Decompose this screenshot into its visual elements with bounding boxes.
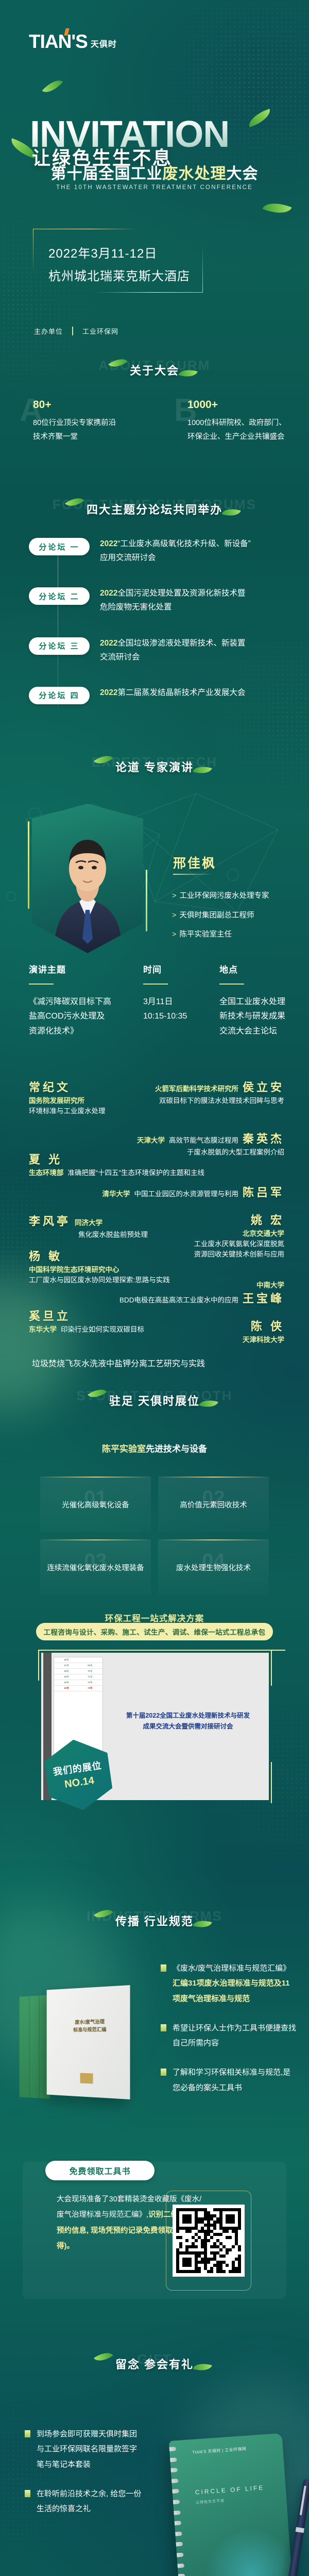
forum-year: 2022 [100,688,117,697]
speech-detail-table: 演讲主题 《减污降碳双目标下高 盐高COD污水处理及 资源化技术》 时间 3月1… [29,962,290,1039]
square-bullet-icon [25,2430,30,2437]
time-line: 3月11日 [143,995,219,1009]
speech-topic-column: 演讲主题 《减污降碳双目标下高 盐高COD污水处理及 资源化技术》 [29,962,143,1039]
forum-line1: 全国污泥处理处置及资源化新技术暨 [117,589,245,598]
our-booth-label: 我们的展位 [52,1758,102,1778]
speaker-entry-topic: 垃圾焚烧飞灰水洗液中盐钾分离工艺研究与实践 [32,1357,205,1369]
event-date: 2022年3月11-12日 [48,243,157,261]
booth-section: STOP AT THE BOOTH 驻足 天俱时展位 陈平实验室先进技术与设备 … [0,1386,309,1638]
about-heading-title: 关于大会 [130,362,179,378]
speaker-name: 王宝峰 [243,1290,284,1306]
conference-subtitle-en: THE 10TH WASTEWATER TREATMENT CONFERENCE [0,184,309,191]
speaker-entry: 姚 宏 北京交通大学 工业废水厌氧氨氧化深度脱氮 资源回收关键技术创新与应用 [194,1211,285,1259]
conference-title-highlight: 废水处理 [163,165,227,182]
column-underline [219,984,244,985]
place-line: 新技术与研发成果 [219,1009,290,1024]
booth-heading: STOP AT THE BOOTH 驻足 天俱时展位 [0,1386,309,1420]
notebook-glow-decoration [202,2525,293,2576]
speaker-org: 天津大学 [137,1134,165,1145]
floorplan-row: 68号 [54,1657,102,1663]
notebook-title: CIRCLE OF LIFE [195,2484,264,2496]
notebook-spiral-icon [169,2447,186,2576]
floorplan-row-highlight: 63号73号 [54,1686,102,1691]
speaker-org: 中国科学院生态环境研究中心 [29,1264,170,1274]
speaker-entry: 常纪文 国务院发展研究所 环境标准与工业废水处理 [29,1078,106,1115]
topic-line: 资源化技术》 [29,1024,143,1039]
book-slipcase: 废水/废气治理 标准与规范汇编 [47,1985,130,2099]
speaker-org: 北京交通大学 [194,1228,285,1238]
notebook-illustration: TIAN'S 天俱时 | 工业环保网 CIRCLE OF LIFE 让绿色生生不… [169,2433,293,2576]
booth-subtitle-rest: 先进技术与设备 [146,1444,207,1454]
speaker-topic: 垃圾焚烧飞灰水洗液中盐钾分离工艺研究与实践 [32,1357,205,1369]
speech-place-value: 全国工业废水处理 新技术与研发成果 交流大会主论坛 [219,995,290,1039]
forums-heading: FOUR THEME SUB FORUMS 四大主题分论坛共同举办 [0,495,309,529]
speaker-role-text: 天俱时集团副总工程师 [179,911,254,920]
chevron-right-icon: > [172,930,176,939]
speaker-entry: 火箭军后勤科学技术研究所 侯立安 双碳目标下的膜法水处理技术回眸与思考 [155,1078,284,1105]
column-underline [29,984,54,985]
chevron-right-icon: > [172,892,176,900]
stat-number: 80+ [33,399,143,411]
stat-text: 80位行业顶尖专家携前沿 技术齐聚一堂 [33,416,143,444]
tech-tile[interactable]: 02 高价值元素回收技术 [158,1477,269,1532]
speech-topic-value: 《减污降碳双目标下高 盐高COD污水处理及 资源化技术》 [29,995,143,1039]
stat-card: B 1000+ 1000位科研院校、政府部门、 环保企业、生产企业共镶盛会 [154,399,309,444]
stat-text-line: 1000位科研院校、政府部门、 [187,416,298,430]
speaker-portrait-illustration [32,804,143,953]
event-venue: 杭州城北瑞莱克斯大酒店 [48,266,190,284]
forum-line1: 第二届蒸发结晶新技术产业发展大会 [117,688,245,697]
organizer-name: 工业环保网 [82,326,118,336]
floorplan-row: 64号72号 [54,1680,102,1686]
free-book-section: 免费领取工具书 大会现场准备了30套精装烫金收藏版《废水/废气治理标准与规范汇编… [0,2154,309,2344]
about-heading-text: 关于大会 [130,364,179,377]
speaker-list-section: 常纪文 国务院发展研究所 环境标准与工业废水处理 火箭军后勤科学技术研究所 侯立… [0,1054,309,1342]
book-set-illustration: 废水/废气治理 标准与规范汇编 [19,1978,142,2107]
place-line: 全国工业废水处理 [219,995,290,1009]
norms-bullet-list: 《废水/废气治理标准与规范汇编》汇编31项废水治理标准与规范及11项废气治理标准… [161,1961,297,2110]
gift-bullet-item: 到场参会即可获赠天俱时集团与工业环保网联名限量款签字笔与笔记本套装 [25,2427,143,2472]
tile-label: 高价值元素回收技术 [180,1499,247,1510]
topic-line: 《减污降碳双目标下高 [29,995,143,1009]
forum-line1: 全国垃圾渗滤液处理新技术、新装置 [117,639,245,648]
speaker-topic: 准确把握“十四五”生态环境保护的主题和主线 [68,1167,205,1177]
forum-text: 2022全国垃圾渗滤液处理新技术、新装置 交流研讨会 [100,636,246,664]
speaker-topic: 焦化废水脱盐前预处理 [78,1229,148,1239]
speaker-name: 姚 宏 [194,1211,285,1228]
forum-badge[interactable]: 分论坛 三 [29,637,90,655]
forum-line1: “工业废水高级氧化技术升级、新设备” [117,539,250,548]
floorplan-section: 工程咨询与设计、采购、施工、试生产、调试、维保一站式工程总承包 68号 67号6… [0,1623,309,1829]
tile-label: 废水处理生物强化技术 [176,1562,251,1573]
forum-badge[interactable]: 分论坛 一 [29,538,90,555]
speaker-name: 常纪文 [29,1078,106,1095]
speech-time-value: 3月11日 10:15-10:35 [143,995,219,1024]
qr-code-grid [176,2208,241,2273]
forum-row[interactable]: 分论坛 三 2022全国垃圾渗滤液处理新技术、新装置 交流研讨会 [0,636,309,664]
speaker-entry: 李风亭 同济大学 焦化废水脱盐前预处理 [29,1212,148,1239]
speaker-entry: 清华大学 中国工业园区的水资源管理与利用 陈吕军 [102,1183,284,1200]
qr-code[interactable] [173,2205,245,2277]
speaker-topic: 双碳目标下的膜法水处理技术回眸与思考 [155,1095,284,1105]
forum-line2: 应用交流研讨会 [100,551,251,565]
gift-bullet-text: 到场参会即可获赠天俱时集团与工业环保网联名限量款签字笔与笔记本套装 [37,2427,143,2472]
our-booth-number: NO.14 [64,1774,95,1790]
speaker-name: 奚旦立 [29,1307,144,1324]
expert-heading-text: 论道 专家演讲 [115,761,194,774]
place-line: 交流大会主论坛 [219,1024,290,1039]
brand-name-cn: 天俱时 [91,37,117,51]
leaf-icon [42,75,63,97]
gift-heading-text: 留念 参会有礼 [115,2358,194,2371]
forums-heading-title: 四大主题分论坛共同举办 [87,501,222,517]
norms-heading-text: 传播 行业规范 [115,1915,194,1928]
speaker-topic: BDD电极在高盐高浓工业废水中的应用 [119,1294,238,1304]
booth-tech-tiles: 01 光催化高级氧化设备 02 高价值元素回收技术 03 连续流催化氧化废水处理… [40,1477,269,1595]
stat-number: 1000+ [187,399,298,411]
booth-heading-text: 驻足 天俱时展位 [109,1395,200,1408]
speaker-role-text: 工业环保网污废水处理专家 [179,892,269,900]
floorplan-caption-line: 成果交流大会暨供需对接研讨会 [113,1721,263,1732]
forums-heading-text: 四大主题分论坛共同举办 [87,503,222,516]
speaker-entry: 奚旦立 东华大学 印染行业如何实现双碳目标 [29,1307,144,1334]
tile-label: 连续流催化氧化废水处理装备 [47,1562,144,1573]
floorplan-caption: 第十届2022全国工业废水处理新技术与研发 成果交流大会暨供需对接研讨会 [113,1710,263,1733]
speaker-org: 东华大学 [29,1324,57,1334]
leaf-icon [246,109,273,127]
floorplan-row: 66号70号 [54,1669,102,1674]
expert-heading: EXPERT SPEECH 论道 专家演讲 [0,752,309,786]
leaf-icon [262,197,291,219]
stat-text-line: 环保企业、生产企业共镶盛会 [187,430,298,444]
forum-year: 2022 [100,539,117,548]
poster-root: TIAN'S 天俱时 INVITATION 让绿色生生不息 第十届全国工业废水处… [0,0,309,2576]
book-cover-line: 标准与规范汇编 [59,2026,123,2035]
speaker-org: 生态环境部 [29,1167,64,1177]
column-underline [143,984,168,985]
conference-title-part2: 大会 [227,165,259,182]
tile-label: 光催化高级氧化设备 [62,1499,129,1510]
speaker-topic: 环境标准与工业废水处理 [29,1105,106,1115]
floorplan-caption-line: 第十届2022全国工业废水处理新技术与研发 [113,1710,263,1721]
free-book-pill: 免费领取工具书 [45,2161,154,2180]
speaker-entry: 陈 侠 天津科技大学 [243,1317,284,1344]
square-bullet-icon [161,2069,166,2076]
norms-bullet-text: 希望让环保人士作为工具书便捷查找自己所需内容 [173,2021,297,2051]
speaker-org: 国务院发展研究所 [29,1095,106,1105]
speaker-name: 夏 光 [29,1150,204,1167]
topic-line: 盐高COD污水处理及 [29,1009,143,1024]
speaker-topic: 中国工业园区的水资源管理与利用 [134,1188,238,1198]
booth-heading-title: 驻足 天俱时展位 [109,1392,200,1409]
stat-text-line: 80位行业顶尖专家携前沿 [33,416,143,430]
speaker-name: 陈吕军 [243,1183,284,1200]
forum-row[interactable]: 分论坛 一 2022“工业废水高级氧化技术升级、新设备” 应用交流研讨会 [0,537,309,565]
speaker-name: 侯立安 [243,1078,284,1095]
about-heading: ABOUT FOURM 关于大会 [0,355,309,389]
speaker-name: 邢佳枫 [173,853,216,872]
speech-topic-header: 演讲主题 [29,962,143,975]
notebook-subtitle: 让绿色生生不息 [196,2498,225,2505]
forum-year: 2022 [100,639,117,648]
speaker-org: 同济大学 [75,1217,102,1227]
norms-heading-title: 传播 行业规范 [115,1912,194,1929]
speaker-name-underline [173,874,213,875]
speaker-org: 中南大学 [119,1279,284,1290]
booth-subtitle-highlight: 陈平实验室 [102,1444,146,1454]
pen-band-icon [296,2527,304,2533]
speaker-roles: >工业环保网污废水处理专家 >天俱时集团副总工程师 >陈平实验室主任 [172,892,269,951]
hex-accent-left [28,821,29,909]
speaker-role-item: >天俱时集团副总工程师 [172,912,269,920]
onestop-solution-label: 环保工程一站式解决方案 [0,1612,309,1624]
norms-bullet-item: 了解和学习环保相关标准与规范,是您必备的案头工具书 [161,2065,297,2095]
speech-time-column: 时间 3月11日 10:15-10:35 [143,962,219,1039]
speech-time-header: 时间 [143,962,219,975]
speech-place-header: 地点 [219,962,290,975]
square-bullet-icon [25,2490,30,2497]
free-book-card: 免费领取工具书 大会现场准备了30套精装烫金收藏版《废水/废气治理标准与规范汇编… [23,2162,286,2299]
gift-bullet-item: 在聆听前沿技术之余, 给您一份生活的惊喜之礼 [25,2486,143,2517]
tech-tile[interactable]: 01 光催化高级氧化设备 [40,1477,151,1532]
speaker-entry: 夏 光 生态环境部 准确把握“十四五”生态环境保护的主题和主线 [29,1150,204,1177]
book-spines [20,1995,50,2098]
forums-section: FOUR THEME SUB FORUMS 四大主题分论坛共同举办 分论坛 一 … [0,495,309,752]
speaker-name: 杨 敏 [29,1247,170,1264]
speaker-topic-line2: 资源回收关键技术创新与应用 [194,1248,285,1259]
conference-title: 第十届全国工业废水处理大会 [0,161,309,183]
stat-text-line: 技术齐聚一堂 [33,430,143,444]
speaker-org: 天津科技大学 [243,1334,284,1344]
gift-bullet-list: 到场参会即可获赠天俱时集团与工业环保网联名限量款签字笔与笔记本套装 在聆听前沿技… [25,2427,143,2531]
norms-bullet-item: 希望让环保人士作为工具书便捷查找自己所需内容 [161,2021,297,2051]
pen-clip-icon [300,2485,306,2515]
forum-line2: 危险废物无害化处置 [100,600,246,614]
square-bullet-icon [161,2024,166,2031]
epc-scope-pill: 工程咨询与设计、采购、施工、试生产、调试、维保一站式工程总承包 [36,1623,273,1640]
brand-logo: TIAN'S 天俱时 [29,32,117,51]
conference-title-part1: 第十届全国工业 [51,165,163,182]
hero-section: TIAN'S 天俱时 INVITATION 让绿色生生不息 第十届全国工业废水处… [0,0,309,355]
booth-subtitle: 陈平实验室先进技术与设备 [0,1442,309,1454]
tech-tile[interactable]: 04 废水处理生物强化技术 [158,1539,269,1595]
norms-bullet-item: 《废水/废气治理标准与规范汇编》汇编31项废水治理标准与规范及11项废气治理标准… [161,1961,297,2006]
gift-bullet-text: 在聆听前沿技术之余, 给您一份生活的惊喜之礼 [37,2486,143,2517]
about-section: ABOUT FOURM 关于大会 A 80+ 80位行业顶尖专家携前沿 技术齐聚… [0,355,309,495]
book-logo-icon [80,2073,93,2084]
brand-mark: TIAN'S [29,32,88,51]
speaker-entry: 中南大学 BDD电极在高盐高浓工业废水中的应用 王宝峰 [119,1279,284,1306]
speaker-topic-line1: 高效节能气态膜过程用 [169,1134,238,1145]
speaker-topic: 印染行业如何实现双碳目标 [61,1324,144,1334]
forum-row[interactable]: 分论坛 二 2022全国污泥处理处置及资源化新技术暨 危险废物无害化处置 [0,586,309,614]
forum-year: 2022 [100,589,117,598]
forum-badge[interactable]: 分论坛 二 [29,587,90,605]
organizer-label: 主办单位 [34,326,63,336]
square-bullet-icon [161,1964,166,1972]
speaker-org: 火箭军后勤科学技术研究所 [155,1083,238,1093]
speaker-role-item: >陈平实验室主任 [172,931,269,939]
forum-list: 分论坛 一 2022“工业废水高级氧化技术升级、新设备” 应用交流研讨会 分论坛… [0,537,309,726]
gift-section: GIFT 留念 参会有礼 到场参会即可获赠天俱时集团与工业环保网联名限量款签字笔… [0,2349,309,2576]
norms-section: INDUSTRY NORMS 传播 行业规范 废水/废气治理 标准与规范汇编 《… [0,1875,309,2164]
forum-text: 2022“工业废水高级氧化技术升级、新设备” 应用交流研讨会 [100,537,251,565]
forum-text: 2022第二届蒸发结晶新技术产业发展大会 [100,686,246,700]
forum-line2: 交流研讨会 [100,650,246,664]
gift-heading: GIFT 留念 参会有礼 [0,2349,309,2383]
speaker-name: 李风亭 [29,1212,71,1229]
speaker-role-item: >工业环保网污废水处理专家 [172,892,269,900]
stat-text: 1000位科研院校、政府部门、 环保企业、生产企业共镶盛会 [187,416,298,444]
speaker-topic-line1: 工业废水厌氧氨氧化深度脱氮 [194,1238,285,1248]
speaker-portrait-hexagon [32,804,143,953]
floorplan-row: 67号65号 [54,1663,102,1669]
forum-badge[interactable]: 分论坛 四 [29,687,90,704]
expert-heading-title: 论道 专家演讲 [115,758,194,775]
speaker-org: 清华大学 [102,1188,130,1198]
event-info-box: 2022年3月11-12日 杭州城北瑞莱克斯大酒店 [33,229,203,293]
forum-row[interactable]: 分论坛 四 2022第二届蒸发结晶新技术产业发展大会 [0,686,309,704]
norms-bullet-text: 《废水/废气治理标准与规范汇编》汇编31项废水治理标准与规范及11项废气治理标准… [173,1961,297,2006]
book-cover-title: 废水/废气治理 标准与规范汇编 [59,2018,123,2035]
tech-tile[interactable]: 03 连续流催化氧化废水处理装备 [40,1539,151,1595]
stat-card: A 80+ 80位行业顶尖专家携前沿 技术齐聚一堂 [0,399,154,444]
organizer-row: 主办单位 工业环保网 [34,326,118,336]
qr-code-frame[interactable] [166,2191,251,2291]
notebook-logo: TIAN'S 天俱时 | 工业环保网 [192,2446,247,2455]
about-stats: A 80+ 80位行业顶尖专家携前沿 技术齐聚一堂 B 1000+ 1000位科… [0,399,309,444]
time-line: 10:15-10:35 [143,1009,219,1024]
forum-text: 2022全国污泥处理处置及资源化新技术暨 危险废物无害化处置 [100,586,246,614]
norms-bullet-text: 了解和学习环保相关标准与规范,是您必备的案头工具书 [173,2065,297,2095]
hex-accent-right [146,870,147,931]
gift-heading-title: 留念 参会有礼 [115,2355,194,2372]
floorplan-row: 65号71号 [54,1674,102,1680]
speaker-name: 陈 侠 [243,1317,284,1334]
floorplan-box[interactable]: 68号 67号65号 66号70号 65号71号 64号72号 63号73号 第… [41,1653,269,1800]
chevron-right-icon: > [172,911,176,920]
organizer-divider [72,327,73,335]
norms-heading: INDUSTRY NORMS 传播 行业规范 [0,1906,309,1940]
speaker-role-text: 陈平实验室主任 [179,930,232,939]
speaker-photo [32,804,143,953]
speech-place-column: 地点 全国工业废水处理 新技术与研发成果 交流大会主论坛 [219,962,290,1039]
speaker-name: 秦英杰 [243,1130,284,1146]
